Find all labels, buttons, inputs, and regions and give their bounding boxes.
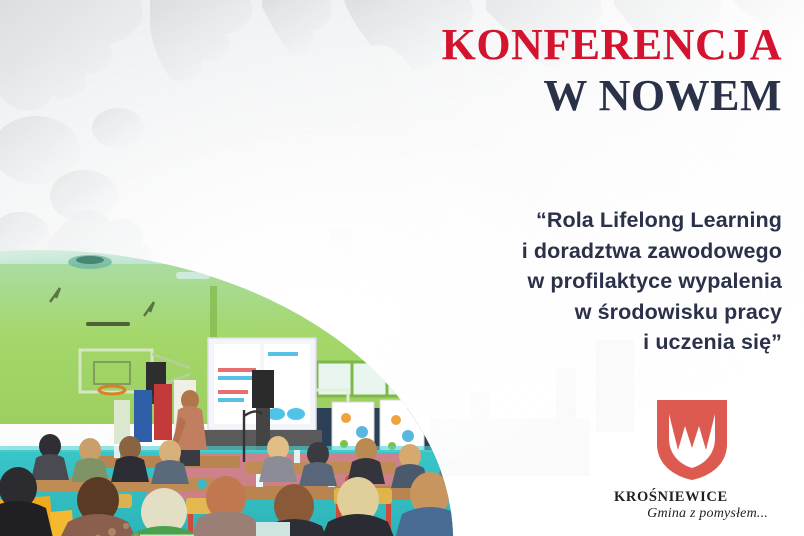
poster-title: KONFERENCJA W NOWEM (362, 22, 782, 120)
conference-theme-quote: “Rola Lifelong Learning i doradztwa zawo… (352, 205, 782, 358)
conference-poster: KONFERENCJA W NOWEM “Rola Lifelong Learn… (0, 0, 804, 536)
municipality-name: KROŚNIEWICE (614, 489, 776, 506)
quote-line: i doradztwa zawodowego (352, 236, 782, 267)
krosniewice-logo: KROŚNIEWICE Gmina z pomysłem... (608, 398, 776, 522)
quote-line: i uczenia się” (352, 327, 782, 358)
title-line-w-nowem: W NOWEM (362, 71, 782, 120)
title-line-konferencja: KONFERENCJA (362, 22, 782, 69)
coat-of-arms-shield-icon (655, 398, 729, 482)
quote-line: w środowisku pracy (352, 297, 782, 328)
quote-line: w profilaktyce wypalenia (352, 266, 782, 297)
quote-line: “Rola Lifelong Learning (352, 205, 782, 236)
municipality-tagline: Gmina z pomysłem... (608, 506, 768, 522)
